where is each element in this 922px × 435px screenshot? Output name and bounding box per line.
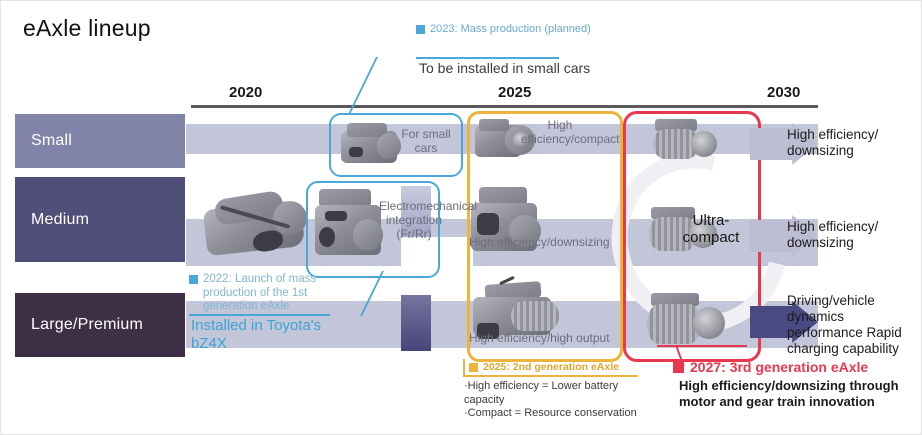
callout-gen1-underline <box>189 314 330 316</box>
timeline-tick-2030: 2030 <box>767 84 800 101</box>
legend-swatch-red-icon <box>673 362 684 373</box>
legend-swatch-yellow-icon <box>469 363 478 372</box>
timeline-tick-2020: 2020 <box>229 84 262 101</box>
timeline-axis <box>191 105 818 108</box>
callout-gen1-legend-text: 2022: Launch of mass production of the 1… <box>203 273 364 314</box>
timeline-tick-2025: 2025 <box>498 84 531 101</box>
label-high-efficiency-high-output: High efficiency/high output <box>465 331 621 345</box>
page-title: eAxle lineup <box>23 15 151 42</box>
legend-gen2: 2025: 2nd generation eAxle <box>469 361 659 374</box>
label-for-small-cars: For small cars <box>398 127 454 155</box>
callout-gen-planned-underline <box>416 57 559 59</box>
legend-swatch-blue-icon <box>416 25 425 34</box>
label-electromechanical: Electromechanical integration (Fr/Rr) <box>379 199 449 241</box>
callout-gen-planned-legend: 2023: Mass production (planned) <box>416 23 616 36</box>
outcome-text-large: Driving/vehicle dynamics performance Rap… <box>787 293 919 357</box>
label-ultra-compact: Ultra-compact <box>668 212 754 246</box>
label-high-efficiency-compact: High efficiency/compact <box>521 118 599 146</box>
legend-gen2-text: 2025: 2nd generation eAxle <box>483 361 619 374</box>
segment-label-large: Large/Premium <box>15 293 185 357</box>
legend-swatch-blue-icon <box>189 275 198 284</box>
segment-label-medium: Medium <box>15 177 185 262</box>
outcome-text-medium: High efficiency/ downsizing <box>787 219 919 251</box>
callout-gen-planned-legend-text: 2023: Mass production (planned) <box>430 23 591 36</box>
segment-label-small: Small <box>15 114 185 168</box>
eaxle-unit-gen0-medium <box>201 187 311 263</box>
callout-gen1-legend: 2022: Launch of mass production of the 1… <box>189 273 364 314</box>
callout-gen-planned-headline: To be installed in small cars <box>419 60 590 76</box>
legend-gen2-bullet-1: ·High efficiency = Lower battery capacit… <box>464 379 659 407</box>
callout-gen1-headline: Installed in Toyota's bZ4X <box>191 317 351 353</box>
label-high-efficiency-downsizing: High efficiency/downsizing <box>465 235 621 249</box>
outcome-text-small: High efficiency/ downsizing <box>787 127 919 159</box>
legend-gen3-text: 2027: 3rd generation eAxle <box>690 359 868 375</box>
legend-gen2-underline <box>463 375 638 377</box>
legend-gen3-detail: High efficiency/downsizing through motor… <box>679 378 919 410</box>
legend-gen3: 2027: 3rd generation eAxle <box>673 359 868 375</box>
legend-gen2-bullet-2: ·Compact = Resource conservation <box>464 406 659 420</box>
